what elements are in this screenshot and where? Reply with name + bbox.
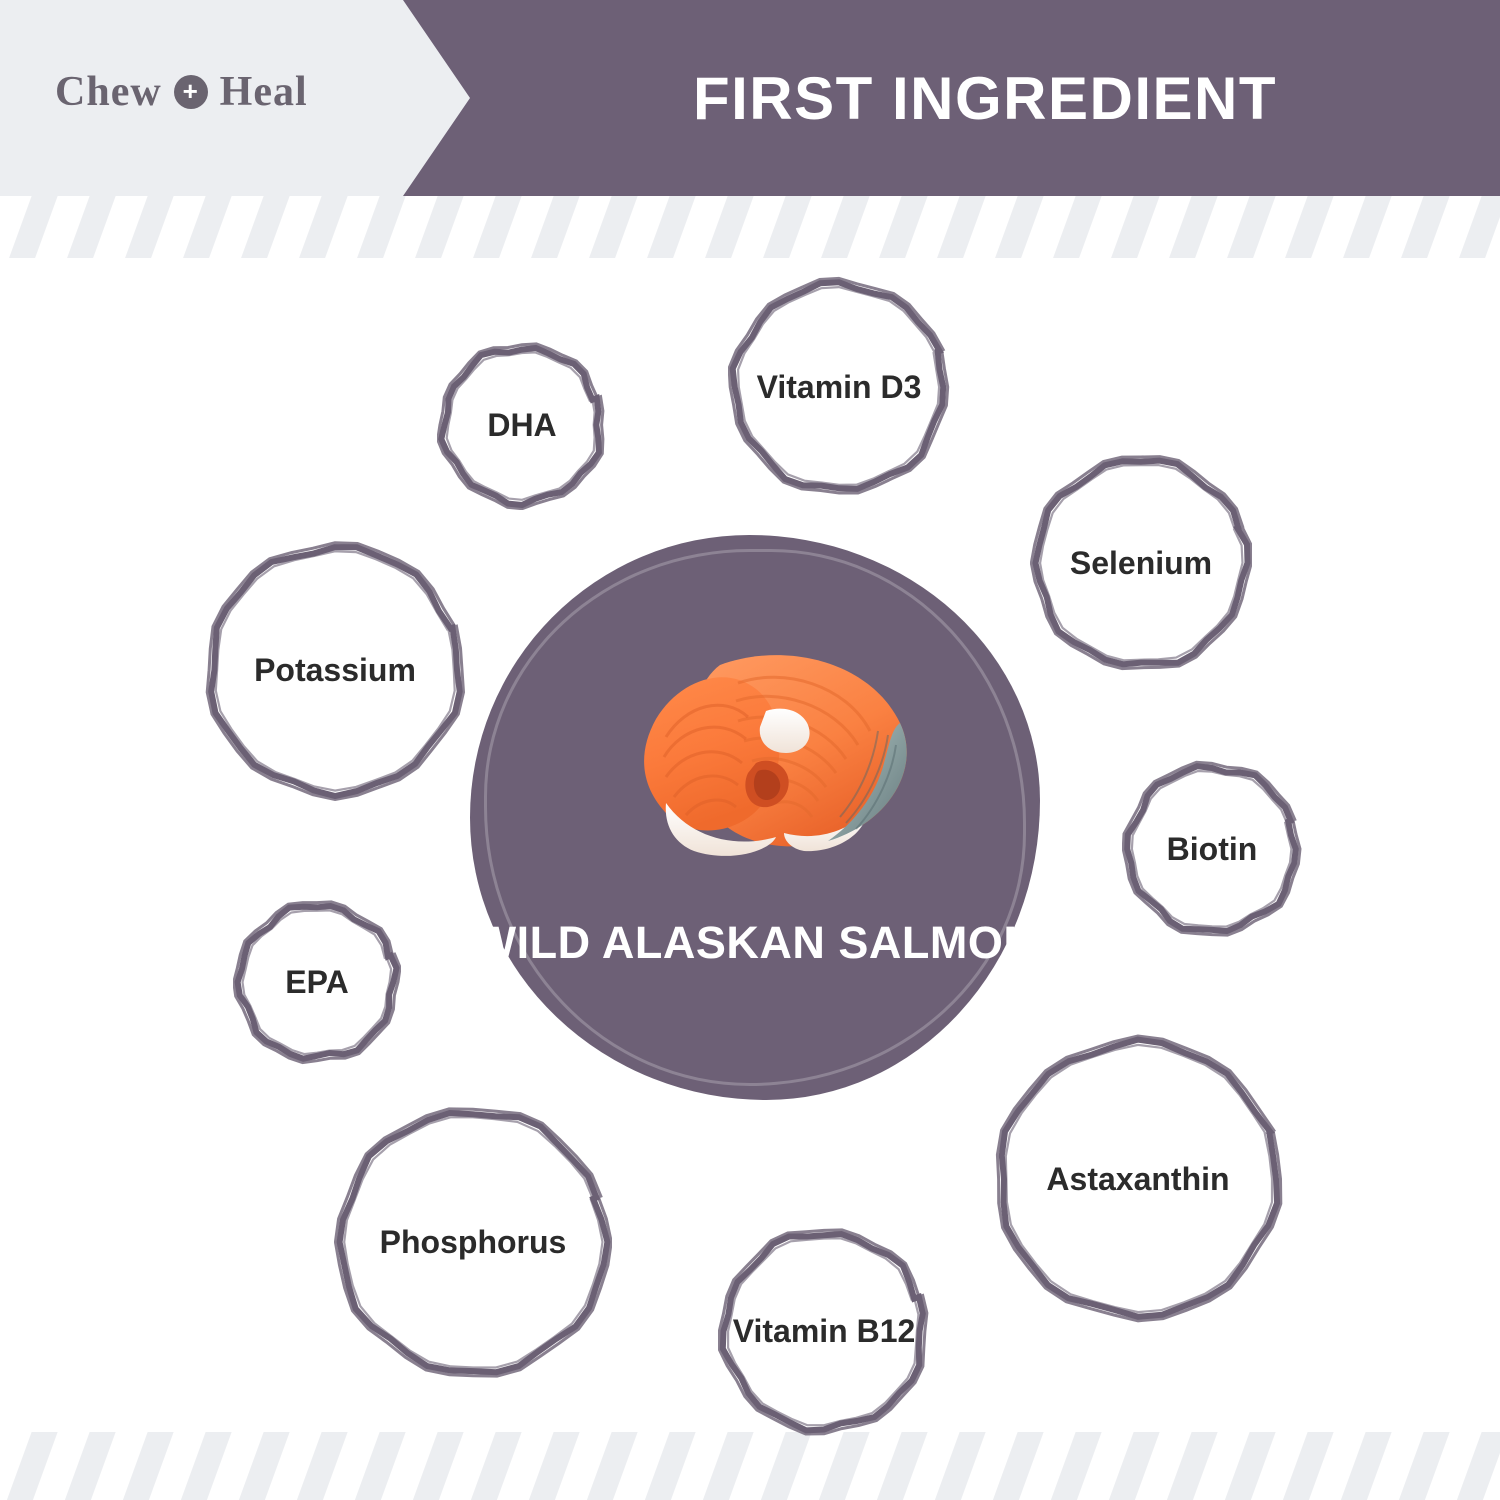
center-ingredient-label: WILD ALASKAN SALMON (470, 915, 1040, 971)
stripe (3, 196, 64, 258)
stripe (467, 196, 528, 258)
stripe (583, 1432, 644, 1500)
center-ingredient-blob: WILD ALASKAN SALMON (470, 535, 1040, 1100)
stripe (583, 196, 644, 258)
stripe (177, 1432, 238, 1500)
stripe (3, 1432, 64, 1500)
stripe-band-top (0, 196, 1500, 258)
page-header: Chew + Heal FIRST INGREDIENT (0, 0, 1500, 196)
stripe (699, 1432, 760, 1500)
stripe-band-bottom (0, 1432, 1500, 1500)
nutrient-bubble: Phosphorus (334, 1103, 612, 1381)
stripe (409, 1432, 470, 1500)
stripe (1453, 196, 1500, 258)
stripe (815, 196, 876, 258)
stripe (1221, 1432, 1282, 1500)
stripe (351, 196, 412, 258)
stripe (61, 1432, 122, 1500)
nutrient-bubble: Selenium (1030, 452, 1252, 674)
stripe (641, 196, 702, 258)
nutrient-bubble: Vitamin B12 (718, 1225, 930, 1437)
stripe (351, 1432, 412, 1500)
nutrient-label: Vitamin D3 (747, 368, 932, 406)
stripe (409, 196, 470, 258)
stripe (1047, 196, 1108, 258)
nutrient-bubble: Potassium (204, 539, 466, 801)
stripe (1163, 196, 1224, 258)
brand-word-heal: Heal (220, 68, 308, 116)
stripe (525, 196, 586, 258)
nutrient-label: DHA (477, 406, 566, 444)
stripe (699, 196, 760, 258)
plus-icon: + (174, 75, 208, 109)
stripe (235, 196, 296, 258)
stripe (641, 1432, 702, 1500)
stripe (1395, 1432, 1456, 1500)
stripe (931, 196, 992, 258)
nutrient-bubble: EPA (233, 898, 401, 1066)
stripe (1105, 1432, 1166, 1500)
stripe (757, 1432, 818, 1500)
stripe (1337, 196, 1398, 258)
page-title: FIRST INGREDIENT (470, 0, 1500, 196)
stripe (119, 196, 180, 258)
stripe (757, 196, 818, 258)
stripe (1395, 196, 1456, 258)
stripe (1453, 1432, 1500, 1500)
nutrient-bubble: Biotin (1122, 759, 1302, 939)
nutrient-bubble: Vitamin D3 (728, 276, 950, 498)
stripe (1221, 196, 1282, 258)
stripe (1105, 196, 1166, 258)
nutrient-label: EPA (275, 963, 358, 1001)
salmon-steak-icon (570, 627, 960, 877)
stripe (1337, 1432, 1398, 1500)
stripe (1279, 196, 1340, 258)
stripe (1163, 1432, 1224, 1500)
stripe (235, 1432, 296, 1500)
stripe (1279, 1432, 1340, 1500)
stripe (873, 196, 934, 258)
stripe (293, 1432, 354, 1500)
stripe (525, 1432, 586, 1500)
stripe (815, 1432, 876, 1500)
stripe (467, 1432, 528, 1500)
stripe (873, 1432, 934, 1500)
nutrient-label: Biotin (1157, 830, 1268, 868)
stripe (989, 196, 1050, 258)
ingredient-diagram: WILD ALASKAN SALMON DHAVitamin D3Seleniu… (0, 258, 1500, 1432)
brand-logo: Chew + Heal (55, 68, 308, 116)
stripe (61, 196, 122, 258)
nutrient-label: Selenium (1060, 544, 1222, 582)
stripe (1047, 1432, 1108, 1500)
stripe (177, 196, 238, 258)
stripe (293, 196, 354, 258)
nutrient-bubble: Astaxanthin (993, 1034, 1283, 1324)
nutrient-label: Phosphorus (370, 1223, 577, 1261)
stripe (119, 1432, 180, 1500)
brand-word-chew: Chew (55, 68, 162, 116)
nutrient-bubble: DHA (437, 340, 607, 510)
nutrient-label: Potassium (244, 651, 426, 689)
nutrient-label: Vitamin B12 (723, 1312, 926, 1350)
stripe (989, 1432, 1050, 1500)
nutrient-label: Astaxanthin (1036, 1160, 1239, 1198)
stripe (931, 1432, 992, 1500)
